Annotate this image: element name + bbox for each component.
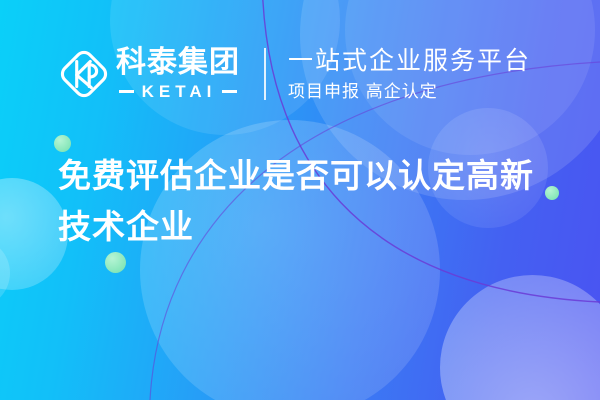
brand-name-en: KETAI [142, 83, 217, 100]
brand-logo-wordmark: 科泰集团 KETAI [116, 48, 240, 100]
ketai-diamond-kd-monogram-icon [58, 48, 110, 100]
header-tagline: 一站式企业服务平台 项目申报 高企认定 [288, 47, 531, 101]
brand-logo: 科泰集团 KETAI [58, 48, 240, 100]
banner-header: 科泰集团 KETAI 一站式企业服务平台 项目申报 高企认定 [58, 38, 531, 110]
tagline-primary: 一站式企业服务平台 [288, 47, 531, 76]
header-divider [264, 48, 266, 100]
tagline-secondary: 项目申报 高企认定 [288, 82, 531, 102]
brand-name-cn: 科泰集团 [116, 48, 240, 78]
promo-banner: 科泰集团 KETAI 一站式企业服务平台 项目申报 高企认定 免费评估企业是否可… [0, 0, 600, 400]
brand-name-en-row: KETAI [116, 83, 240, 100]
banner-headline: 免费评估企业是否可以认定高新技术企业 [58, 150, 558, 252]
logo-dash-right-icon [222, 90, 237, 93]
logo-dash-left-icon [119, 90, 134, 93]
